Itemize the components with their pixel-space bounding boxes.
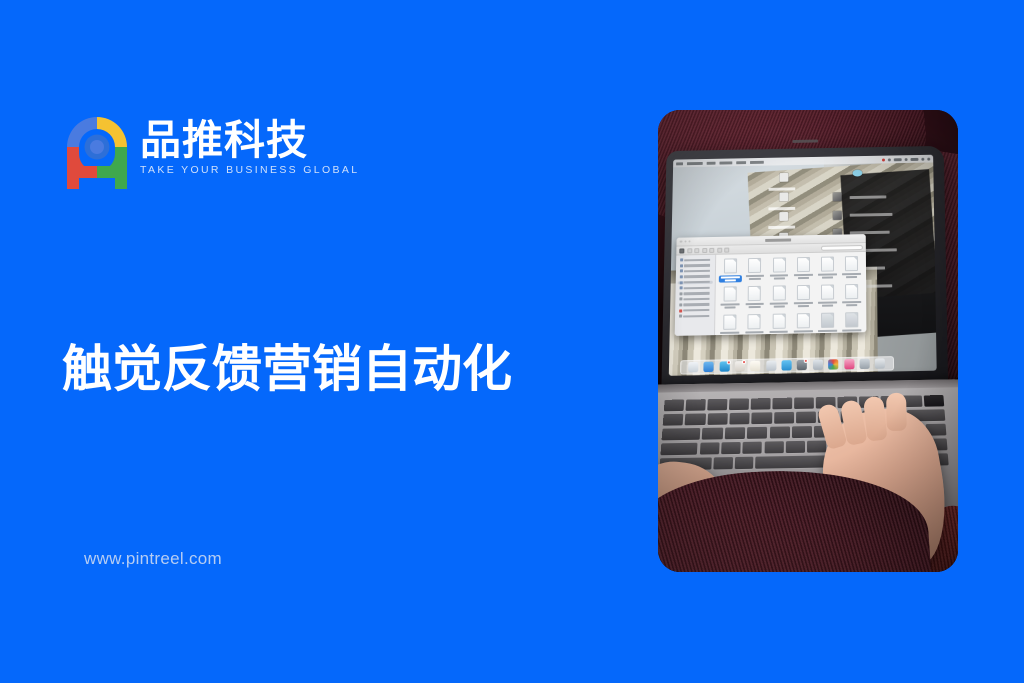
minimize-icon[interactable] [684, 241, 686, 243]
finger [886, 393, 907, 431]
file-label [767, 302, 790, 308]
locked-document-icon [821, 313, 834, 328]
document-icon [772, 286, 785, 301]
hero-photo [658, 110, 958, 572]
file-item[interactable] [743, 286, 767, 313]
document-icon [797, 285, 810, 300]
brand-tagline: TAKE YOUR BUSINESS GLOBAL [140, 165, 359, 177]
file-item[interactable] [792, 285, 815, 312]
menubar-app-menu[interactable] [687, 161, 703, 164]
document-icon [748, 314, 761, 329]
network-icon [679, 303, 682, 306]
sidebar-item-icloud[interactable] [678, 292, 713, 296]
document-icon [724, 259, 737, 274]
left-content-column: 品推科技 TAKE YOUR BUSINESS GLOBAL 触觉反馈营销自动化… [0, 0, 620, 683]
brand-logo-lockup[interactable]: 品推科技 TAKE YOUR BUSINESS GLOBAL [64, 114, 359, 192]
file-item[interactable] [767, 286, 790, 313]
file-label [816, 273, 839, 279]
tag-icon [679, 315, 682, 318]
menubar-apple-menu[interactable] [676, 162, 683, 165]
tray-icon-control-center[interactable] [927, 157, 930, 160]
dock-icon-music[interactable] [844, 358, 854, 368]
share-button[interactable] [717, 248, 722, 253]
desktop-icon-label [769, 187, 796, 190]
file-label [743, 274, 766, 280]
page-title: 触觉反馈营销自动化 [62, 340, 582, 399]
desktop-icon [680, 275, 683, 278]
laptop-model-label [792, 140, 818, 143]
brand-text-block: 品推科技 TAKE YOUR BUSINESS GLOBAL [140, 114, 359, 177]
dock-icon-preferences[interactable] [797, 359, 807, 369]
desktop-icon-label [849, 213, 893, 217]
close-icon[interactable] [680, 241, 682, 243]
menubar-file-menu[interactable] [707, 161, 716, 164]
sidebar-item-label [684, 286, 710, 289]
finder-search-input[interactable] [821, 245, 863, 251]
clock-icon [680, 264, 683, 267]
dock-icon-keynote[interactable] [813, 359, 823, 369]
file-label [792, 274, 815, 280]
sidebar-item-shared[interactable] [678, 297, 713, 301]
file-item[interactable] [791, 313, 814, 336]
file-item[interactable] [816, 285, 839, 312]
finder-sidebar[interactable] [675, 255, 716, 336]
view-list-button[interactable] [687, 248, 692, 253]
file-item[interactable] [719, 259, 743, 285]
file-label [816, 301, 839, 307]
sidebar-item-label [684, 303, 710, 306]
file-item[interactable] [743, 258, 766, 284]
tray-icon-clock[interactable] [911, 157, 919, 160]
file-item[interactable] [743, 314, 767, 336]
menubar-window-menu[interactable] [750, 160, 764, 163]
desktop-icon[interactable] [832, 210, 841, 219]
document-icon [772, 314, 785, 329]
file-item[interactable] [718, 315, 742, 336]
file-item[interactable] [767, 258, 790, 284]
file-item[interactable] [816, 313, 839, 336]
file-item[interactable] [840, 284, 863, 311]
desktop-icon-label [769, 206, 796, 209]
document-icon [748, 286, 761, 301]
document-icon [773, 258, 786, 273]
file-item[interactable] [719, 286, 743, 313]
sidebar-item-tag-red[interactable] [677, 308, 712, 312]
finder-window[interactable] [675, 234, 867, 335]
sidebar-item-label [684, 281, 710, 284]
laptop-screen [669, 155, 937, 376]
sidebar-item-tag-all[interactable] [677, 314, 712, 318]
finder-window-title [765, 239, 791, 242]
file-label [719, 303, 742, 309]
sidebar-item-recents[interactable] [678, 264, 713, 268]
action-button[interactable] [710, 248, 715, 253]
file-item[interactable] [792, 257, 815, 283]
dock-icon-appstore[interactable] [782, 360, 792, 370]
file-label [767, 274, 790, 280]
sidebar-item-network[interactable] [678, 303, 713, 307]
downloads-icon [679, 287, 682, 290]
desktop-icon-label [849, 195, 886, 199]
view-column-button[interactable] [695, 248, 700, 253]
file-item[interactable] [767, 314, 791, 336]
tray-icon-spotlight[interactable] [921, 157, 924, 160]
notification-badge [804, 358, 808, 362]
desktop-icon[interactable] [779, 173, 788, 182]
laptop-lid [661, 146, 948, 393]
sidebar-item-airdrop[interactable] [678, 258, 713, 262]
sidebar-item-label [683, 314, 709, 317]
sidebar-item-desktop[interactable] [678, 275, 713, 279]
cloud-icon [679, 292, 682, 295]
documents-icon [679, 281, 682, 284]
dock-icon-downloads[interactable] [859, 358, 869, 368]
desktop-icon[interactable] [832, 193, 841, 202]
tray-icon-alert[interactable] [882, 158, 885, 161]
dock-icon-safari[interactable] [704, 361, 714, 371]
locked-document-icon [845, 312, 858, 327]
document-icon [845, 284, 858, 299]
notification-badge [742, 359, 746, 363]
desktop-icon[interactable] [779, 211, 788, 220]
file-item[interactable] [840, 256, 863, 282]
sidebar-item-label [684, 275, 710, 278]
document-icon [797, 257, 810, 272]
sidebar-item-label [684, 298, 710, 301]
sidebar-item-downloads[interactable] [678, 286, 713, 290]
sidebar-item-label [683, 309, 709, 312]
menubar-tray[interactable] [882, 157, 930, 161]
marketing-banner: 品推科技 TAKE YOUR BUSINESS GLOBAL 触觉反馈营销自动化… [0, 0, 1024, 683]
document-icon [845, 256, 858, 271]
photo-scene [658, 110, 958, 572]
document-icon [821, 285, 834, 300]
document-icon [821, 257, 834, 272]
sidebar-item-label [684, 264, 710, 267]
desktop-icon[interactable] [852, 170, 862, 177]
notification-badge [726, 360, 730, 364]
sidebar-item-label [684, 270, 710, 273]
file-label [792, 302, 815, 308]
menubar-edit-menu[interactable] [719, 161, 732, 164]
maximize-icon[interactable] [689, 240, 691, 242]
file-label [840, 301, 863, 307]
pintreel-logo-mark-icon [64, 114, 130, 192]
applications-icon [680, 270, 683, 273]
shared-icon [679, 298, 682, 301]
tray-icon-wifi[interactable] [894, 158, 902, 161]
document-icon [797, 313, 810, 328]
tag-icon [679, 309, 682, 312]
dock-icon-notes[interactable] [750, 360, 760, 370]
desktop-icon[interactable] [779, 192, 788, 201]
tag-button[interactable] [724, 247, 729, 252]
file-label [743, 303, 766, 309]
document-icon [748, 258, 761, 273]
sidebar-item-applications[interactable] [678, 269, 713, 273]
document-icon [724, 287, 737, 302]
dock-icon-reminders[interactable] [766, 360, 776, 370]
sidebar-item-label [684, 292, 710, 295]
brand-wordmark: 品推科技 [140, 119, 359, 162]
file-item[interactable] [816, 257, 839, 283]
sidebar-item-label [684, 258, 710, 261]
desktop-icon-label [769, 226, 796, 229]
dock-icon-photos[interactable] [828, 359, 838, 369]
touch-id-key[interactable] [924, 395, 944, 407]
menubar-view-menu[interactable] [736, 161, 746, 164]
dock-icon-mail[interactable] [719, 361, 729, 371]
view-icon-grid-button[interactable] [680, 248, 685, 253]
dock-icon-finder[interactable] [688, 361, 698, 371]
dock-icon-trash[interactable] [875, 358, 885, 368]
dock-icon-contacts[interactable] [735, 361, 745, 371]
website-url[interactable]: www.pintreel.com [84, 549, 222, 569]
finder-file-grid[interactable] [715, 252, 867, 335]
sidebar-item-documents[interactable] [678, 280, 713, 284]
group-by-button[interactable] [702, 248, 707, 253]
document-icon [723, 315, 736, 330]
file-label [840, 273, 863, 279]
tray-icon-bluetooth[interactable] [905, 158, 908, 161]
tray-icon-battery[interactable] [888, 158, 891, 161]
airdrop-icon [680, 259, 683, 262]
finder-body [675, 252, 867, 336]
file-label [719, 275, 742, 283]
